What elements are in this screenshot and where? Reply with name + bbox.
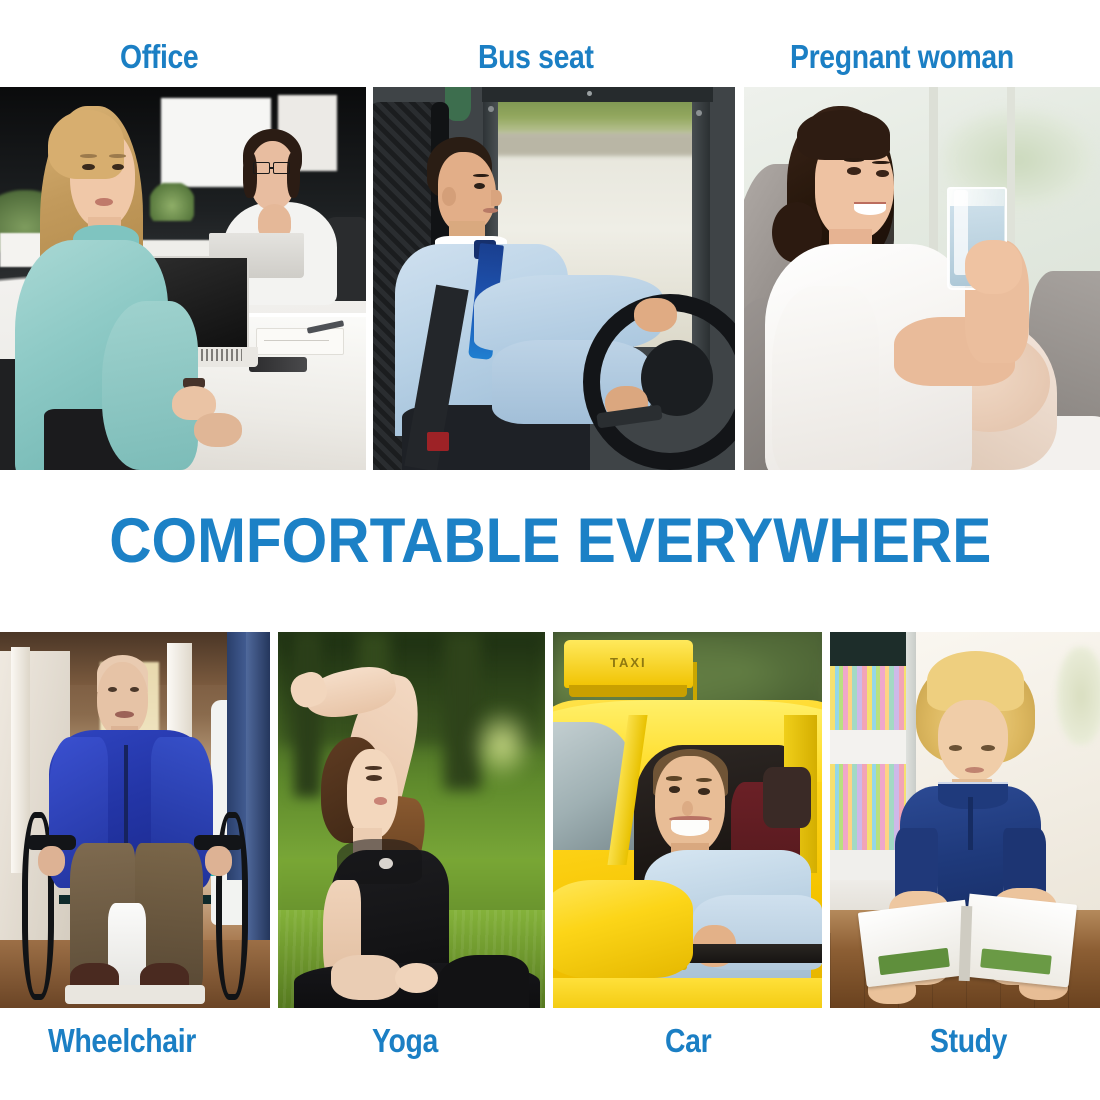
- glasses-icon: [273, 162, 290, 174]
- label-wheelchair: Wheelchair: [48, 1022, 196, 1060]
- car-scene: TAXI: [553, 632, 822, 1008]
- label-bus-seat: Bus seat: [478, 38, 594, 76]
- photo-office: [0, 87, 366, 470]
- glasses-icon: [253, 162, 270, 174]
- photo-pregnant-woman: [744, 87, 1100, 470]
- bus-seat-scene: [373, 87, 735, 470]
- headline-text: COMFORTABLE EVERYWHERE: [109, 505, 991, 577]
- page-headline: COMFORTABLE EVERYWHERE: [0, 505, 1100, 577]
- open-book-right-page: [961, 894, 1077, 988]
- office-scene: [0, 87, 366, 470]
- yoga-scene: [278, 632, 545, 1008]
- office-plant-icon: [150, 183, 194, 221]
- necklace-icon: [379, 858, 392, 869]
- label-office: Office: [120, 38, 198, 76]
- photo-car: TAXI: [553, 632, 822, 1008]
- wheelchair-scene: [0, 632, 270, 1008]
- label-yoga: Yoga: [372, 1022, 438, 1060]
- taxi-sign-text: TAXI: [575, 652, 683, 673]
- side-mirror: [553, 880, 693, 978]
- photo-yoga: [278, 632, 545, 1008]
- footrest: [65, 985, 205, 1004]
- label-study: Study: [930, 1022, 1007, 1060]
- label-pregnant-woman: Pregnant woman: [790, 38, 1014, 76]
- photo-bus-seat: [373, 87, 735, 470]
- product-poster: Office Bus seat Pregnant woman: [0, 0, 1100, 1100]
- pregnant-woman-scene: [744, 87, 1100, 470]
- study-scene: [830, 632, 1100, 1008]
- photo-wheelchair: [0, 632, 270, 1008]
- photo-study: [830, 632, 1100, 1008]
- open-book-left-page: [858, 900, 974, 988]
- seat-belt-buckle-icon: [427, 432, 449, 451]
- label-car: Car: [665, 1022, 711, 1060]
